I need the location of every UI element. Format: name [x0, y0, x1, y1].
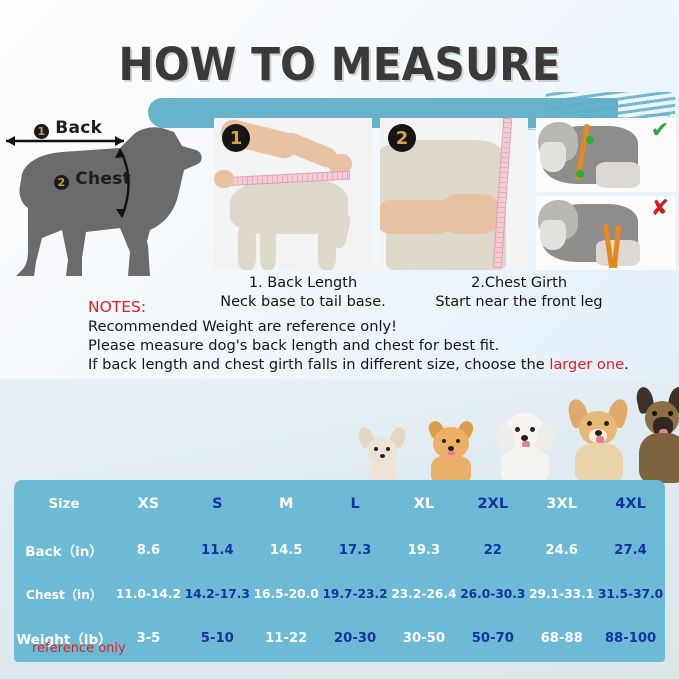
weight-xl: 30-50: [390, 616, 459, 660]
page-title: HOW TO MEASURE: [20, 38, 658, 91]
dog-hindquarters: [596, 162, 640, 188]
header-size-s: S: [183, 480, 252, 528]
back-3xl: 24.6: [527, 528, 596, 572]
chest-4xl: 31.5-37.0: [596, 572, 665, 616]
hand-right-shape: [438, 194, 502, 234]
weight-s: 5-10: [183, 616, 252, 660]
note-line-3-pre: If back length and chest girth falls in …: [88, 356, 549, 373]
dog-beard-shape-2: [540, 220, 566, 250]
chest-xs: 11.0-14.2: [114, 572, 183, 616]
notes-block: NOTES: Recommended Weight are reference …: [88, 298, 668, 375]
badge-number-1: 1: [34, 124, 49, 139]
row-label-back: Back（in）: [14, 528, 114, 572]
body-shape: [639, 433, 679, 483]
chest-s: 14.2-17.3: [183, 572, 252, 616]
back-label-text: Back: [55, 118, 102, 138]
photo-badge-2: 2: [388, 124, 416, 152]
header-size-xs: XS: [114, 480, 183, 528]
dog-photo-corgi: [565, 399, 631, 483]
eye-icon: [386, 447, 390, 451]
marker-dot-bottom: [576, 170, 584, 178]
table-row-back: Back（in） 8.6 11.4 14.5 17.3 19.3 22 24.6…: [14, 528, 665, 572]
chest-xl: 23.2-26.4: [390, 572, 459, 616]
eye-icon: [442, 439, 446, 443]
body-shape: [575, 443, 623, 483]
header-label-size: Size: [14, 480, 114, 528]
back-measurement-label: 1 Back: [34, 118, 102, 139]
eye-icon: [587, 421, 592, 426]
caption-chest-title: 2.Chest Girth: [404, 274, 634, 293]
chest-m: 16.5-20.0: [252, 572, 321, 616]
badge-number-2: 2: [54, 175, 69, 190]
notes-title: NOTES:: [88, 298, 668, 316]
note-line-3-post: .: [624, 356, 629, 373]
weight-4xl: 88-100: [596, 616, 665, 660]
dog-beard-shape: [540, 142, 566, 172]
weight-2xl: 50-70: [458, 616, 527, 660]
back-xs: 8.6: [114, 528, 183, 572]
eye-icon: [604, 421, 609, 426]
header-size-4xl: 4XL: [596, 480, 665, 528]
photo-correct-example: ✔: [536, 118, 676, 192]
mannequin-leg-1: [238, 226, 256, 270]
cross-icon: ✘: [648, 199, 672, 221]
eye-icon: [652, 411, 657, 416]
row-label-chest: Chest（in）: [14, 572, 114, 616]
back-xl: 19.3: [390, 528, 459, 572]
caption-back-title: 1. Back Length: [208, 274, 398, 293]
dog-photo-bichon: [491, 407, 557, 483]
size-chart-infographic: HOW TO MEASURE 1 Back 2 Chest: [0, 0, 679, 679]
eye-icon: [515, 427, 520, 432]
size-table: Size XS S M L XL 2XL 3XL 4XL Back（in） 8.…: [14, 480, 665, 662]
dog-size-photo-strip: [345, 385, 679, 483]
marker-dot-top: [586, 136, 594, 144]
eye-icon: [668, 411, 673, 416]
header-size-2xl: 2XL: [458, 480, 527, 528]
photo-back-length: 1: [214, 118, 372, 270]
mannequin-leg-2: [260, 228, 276, 270]
eye-icon: [530, 427, 535, 432]
silhouette-diagram: 1 Back 2 Chest: [2, 112, 212, 282]
dog-photo-german-shepherd: [635, 387, 679, 483]
note-line-1: Recommended Weight are reference only!: [88, 318, 668, 337]
table-row-chest: Chest（in） 11.0-14.2 14.2-17.3 16.5-20.0 …: [14, 572, 665, 616]
chest-3xl: 29.1-33.1: [527, 572, 596, 616]
body-shape: [501, 447, 549, 483]
header-size-3xl: 3XL: [527, 480, 596, 528]
body-shape: [431, 455, 471, 483]
back-l: 17.3: [321, 528, 390, 572]
header-size-m: M: [252, 480, 321, 528]
back-2xl: 22: [458, 528, 527, 572]
chest-2xl: 26.0-30.3: [458, 572, 527, 616]
header-size-xl: XL: [390, 480, 459, 528]
chest-label-text: Chest: [75, 169, 131, 189]
reference-only-note: reference only: [32, 641, 126, 656]
hand-shape-2: [214, 170, 234, 188]
dog-photo-pomeranian: [421, 415, 481, 483]
chest-measurement-label: 2 Chest: [54, 169, 131, 190]
size-chart-table: Size XS S M L XL 2XL 3XL 4XL Back（in） 8.…: [14, 480, 665, 660]
eye-icon: [374, 447, 378, 451]
note-line-3-highlight: larger one: [549, 356, 624, 373]
table-header-row: Size XS S M L XL 2XL 3XL 4XL: [14, 480, 665, 528]
back-s: 11.4: [183, 528, 252, 572]
top-section: HOW TO MEASURE 1 Back 2 Chest: [0, 0, 679, 379]
weight-l: 20-30: [321, 616, 390, 660]
chest-l: 19.7-23.2: [321, 572, 390, 616]
photo-badge-1: 1: [222, 124, 250, 152]
dog-photo-chihuahua: [355, 423, 411, 483]
note-line-3: If back length and chest girth falls in …: [88, 356, 668, 375]
nose-icon: [380, 454, 385, 458]
check-icon: ✔: [648, 121, 672, 143]
photo-chest-girth: 2: [380, 118, 528, 270]
back-4xl: 27.4: [596, 528, 665, 572]
eye-icon: [456, 439, 460, 443]
note-line-2: Please measure dog's back length and che…: [88, 337, 668, 356]
bottom-section: Size XS S M L XL 2XL 3XL 4XL Back（in） 8.…: [0, 379, 679, 679]
header-size-l: L: [321, 480, 390, 528]
back-m: 14.5: [252, 528, 321, 572]
photo-incorrect-example: ✘: [536, 196, 676, 270]
weight-3xl: 68-88: [527, 616, 596, 660]
weight-m: 11-22: [252, 616, 321, 660]
